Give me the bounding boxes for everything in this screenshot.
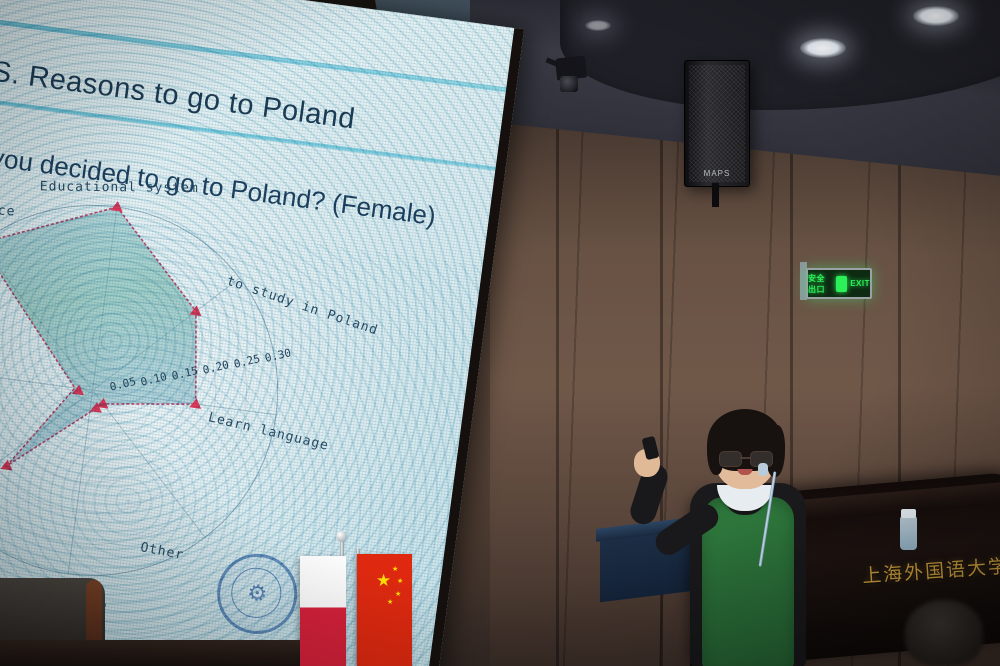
exit-sign-label-cn: 安全出口 [808,273,833,295]
screenshot-root: MAPS 安全出口 EXIT Gender VS. Reasons to go … [0,0,1000,666]
chair-row-front [0,640,300,666]
flag-poland [300,556,346,666]
flag-pole-finial [336,531,347,542]
radar-axis-label-3: Other [139,540,185,563]
seal-emblem-icon: ⚙ [246,581,268,605]
projection-screen: Gender VS. Reasons to go to Poland Why h… [0,0,524,666]
flag-star-small: ★ [397,578,403,585]
radar-tick-4: 0.25 [233,352,262,371]
radar-tick-3: 0.20 [201,358,230,377]
emergency-exit-sign: 安全出口 EXIT [806,268,872,299]
speaker-grille [689,65,745,182]
glasses-lens-left [719,451,742,467]
radar-axis-label-7: Experience [0,199,16,220]
speaker-brand-label: MAPS [685,169,749,178]
flag-star-small: ★ [395,591,401,598]
radar-axis-label-1: to study in Poland [225,274,380,339]
radar-axis-label-0: Educational system [40,179,199,196]
flag-star-small: ★ [392,566,398,573]
speaker-bracket [712,183,719,207]
radar-data-polygon [0,190,220,490]
pa-speaker: MAPS [684,60,750,187]
audience-member-head [905,600,983,666]
microphone-head [758,463,768,476]
radar-tick-5: 0.30 [264,346,293,365]
ceiling-downlight [913,6,959,26]
presenter [630,405,860,666]
flag-star-small: ★ [387,599,393,606]
camera-lens-icon [560,76,578,92]
glasses-bridge [740,457,750,459]
ceiling-downlight [800,38,846,58]
running-person-icon [836,276,847,292]
flag-china: ★ ★ ★ ★ ★ [357,554,412,666]
water-bottle [900,516,917,550]
exit-sign-label: EXIT [850,279,870,288]
flag-star-large: ★ [376,572,391,589]
ceiling-downlight [585,20,611,31]
bottle-cap [901,509,916,518]
